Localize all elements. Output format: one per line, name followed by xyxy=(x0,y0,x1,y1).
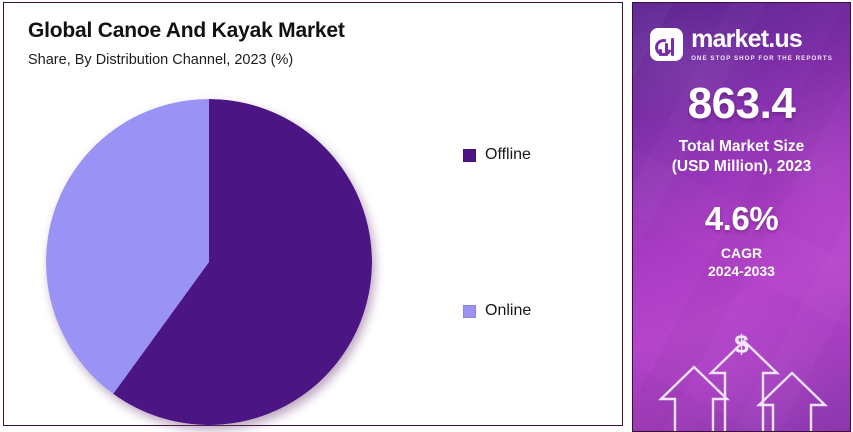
up-arrow-icon-center xyxy=(711,341,777,431)
up-arrow-icon-left xyxy=(661,367,727,431)
pie-chart xyxy=(46,99,372,425)
legend-item-offline[interactable]: Offline xyxy=(463,146,531,164)
infographic-canvas: Global Canoe And Kayak Market Share, By … xyxy=(0,0,853,432)
stat-value-cagr: 4.6% xyxy=(633,202,850,235)
stat-label-market-size: Total Market Size (USD Million), 2023 xyxy=(633,137,850,177)
stat-label-market-size-line1: Total Market Size xyxy=(679,138,804,155)
growth-graphic: $ xyxy=(633,327,850,431)
pie-slices xyxy=(46,99,372,425)
legend-label-offline: Offline xyxy=(485,146,531,164)
logo-name: market.us xyxy=(691,27,833,52)
pie-svg xyxy=(46,99,372,425)
growth-arrows xyxy=(633,327,851,431)
legend-label-online: Online xyxy=(485,302,531,320)
chart-panel: Global Canoe And Kayak Market Share, By … xyxy=(3,2,623,426)
legend-swatch-offline xyxy=(463,149,476,162)
sidebar-content: market.us ONE STOP SHOP FOR THE REPORTS … xyxy=(633,3,850,431)
stat-label-cagr-line1: CAGR xyxy=(721,245,762,261)
legend-item-online[interactable]: Online xyxy=(463,302,531,320)
up-arrow-icon-right xyxy=(759,373,825,431)
stat-label-cagr-line2: 2024-2033 xyxy=(708,263,775,279)
logo-tagline: ONE STOP SHOP FOR THE REPORTS xyxy=(691,55,833,62)
logo-bar-2 xyxy=(665,43,668,56)
brand-logo[interactable]: market.us ONE STOP SHOP FOR THE REPORTS xyxy=(650,27,833,62)
stat-cagr: 4.6% CAGR 2024-2033 xyxy=(633,177,850,280)
stat-label-market-size-line2: (USD Million), 2023 xyxy=(672,158,812,175)
logo-text: market.us ONE STOP SHOP FOR THE REPORTS xyxy=(691,27,833,62)
stat-market-size: 863.4 Total Market Size (USD Million), 2… xyxy=(633,62,850,177)
logo-bars xyxy=(659,38,674,56)
stat-value-market-size: 863.4 xyxy=(633,82,850,126)
chart-legend: Offline Online xyxy=(463,3,613,425)
stats-sidebar: market.us ONE STOP SHOP FOR THE REPORTS … xyxy=(632,2,851,432)
logo-bar-3 xyxy=(671,38,674,56)
stat-label-cagr: CAGR 2024-2033 xyxy=(633,244,850,280)
legend-swatch-online xyxy=(463,305,476,318)
logo-bar-1 xyxy=(659,49,662,56)
bar-chart-logo-icon xyxy=(650,28,683,61)
